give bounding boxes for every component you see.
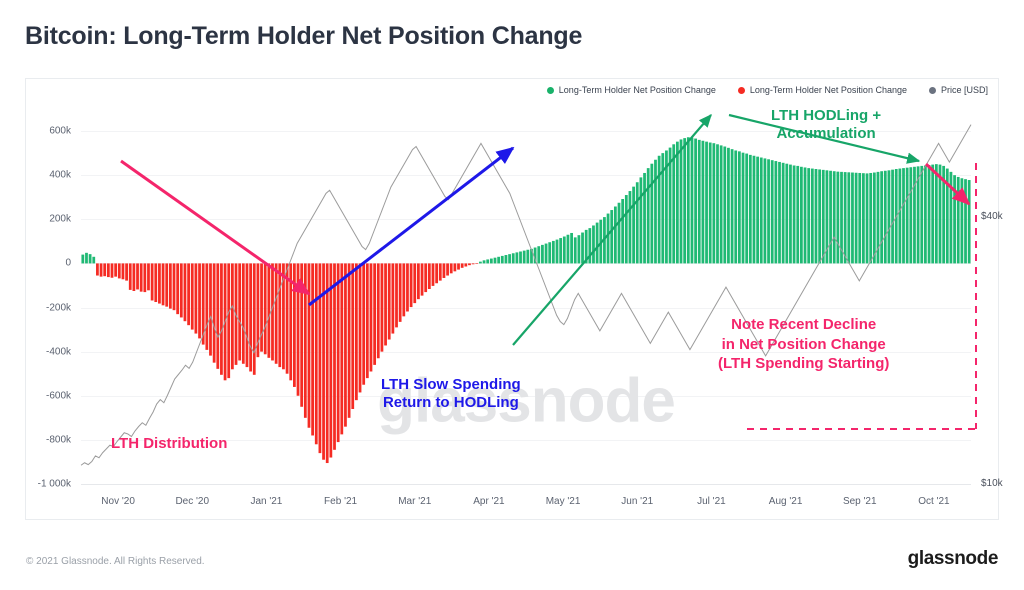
annotation-lth-distribution-line1: LTH Distribution <box>111 435 227 453</box>
legend-dot-red-icon <box>738 87 745 94</box>
y-axis-tick-label: -600k <box>46 390 71 401</box>
y-axis-tick-label: 0 <box>65 258 71 269</box>
price-axis-label: $40k <box>981 211 1003 222</box>
y-axis-tick-label: -800k <box>46 434 71 445</box>
y-axis-tick-label: 200k <box>49 214 71 225</box>
price-axis-label: $10k <box>981 478 1003 489</box>
x-axis-tick-label: Mar '21 <box>398 496 431 507</box>
x-axis-line <box>81 484 971 485</box>
x-axis-tick-label: Jul '21 <box>697 496 726 507</box>
annotation-lth-hodling-line2: Accumulation <box>771 125 881 143</box>
chart-legend: Long-Term Holder Net Position Change Lon… <box>547 85 988 95</box>
x-axis-tick-label: May '21 <box>546 496 581 507</box>
annotation-note-recent-decline-line2: in Net Position Change <box>718 335 889 355</box>
legend-label-green: Long-Term Holder Net Position Change <box>559 85 716 95</box>
arrow-recent-decline <box>926 164 969 204</box>
plot-area: 600k400k200k0-200k-400k-600k-800k-1 000k… <box>81 109 971 484</box>
x-axis-tick-label: Oct '21 <box>918 496 949 507</box>
y-axis-tick-label: -200k <box>46 302 71 313</box>
annotation-lth-slow-spending: LTH Slow Spending Return to HODLing <box>381 376 521 413</box>
y-axis-tick-label: -400k <box>46 346 71 357</box>
x-axis-tick-label: Dec '20 <box>175 496 209 507</box>
legend-label-price: Price [USD] <box>941 85 988 95</box>
x-axis-tick-label: Aug '21 <box>769 496 803 507</box>
x-axis-tick-label: Apr '21 <box>473 496 504 507</box>
annotation-lth-hodling-line1: LTH HODLing + <box>771 107 881 125</box>
annotation-lth-slow-spending-line2: Return to HODLing <box>381 394 521 412</box>
arrow-accumulation-up <box>513 115 711 345</box>
x-axis-tick-label: Sep '21 <box>843 496 877 507</box>
legend-item-lth-green[interactable]: Long-Term Holder Net Position Change <box>547 85 716 95</box>
footer-copyright: © 2021 Glassnode. All Rights Reserved. <box>26 556 205 567</box>
x-axis-tick-label: Jun '21 <box>621 496 653 507</box>
footer-logo: glassnode <box>908 548 998 570</box>
annotation-arrows-layer <box>81 109 971 484</box>
y-axis-tick-label: 600k <box>49 126 71 137</box>
annotation-lth-distribution: LTH Distribution <box>111 435 227 453</box>
legend-item-lth-red[interactable]: Long-Term Holder Net Position Change <box>738 85 907 95</box>
arrow-distribution <box>121 161 309 294</box>
legend-dot-gray-icon <box>929 87 936 94</box>
annotation-lth-hodling: LTH HODLing + Accumulation <box>771 107 881 144</box>
chart-card: Long-Term Holder Net Position Change Lon… <box>25 78 999 520</box>
annotation-note-recent-decline-line3: (LTH Spending Starting) <box>718 354 889 374</box>
annotation-note-recent-decline-line1: Note Recent Decline <box>718 315 889 335</box>
legend-dot-green-icon <box>547 87 554 94</box>
legend-label-red: Long-Term Holder Net Position Change <box>750 85 907 95</box>
arrow-slow-spending <box>309 148 513 305</box>
x-axis-tick-label: Jan '21 <box>250 496 282 507</box>
annotation-note-recent-decline: Note Recent Decline in Net Position Chan… <box>718 315 889 374</box>
page-title: Bitcoin: Long-Term Holder Net Position C… <box>25 22 582 51</box>
legend-item-price[interactable]: Price [USD] <box>929 85 988 95</box>
x-axis-tick-label: Nov '20 <box>101 496 135 507</box>
y-axis-tick-label: -1 000k <box>38 479 71 490</box>
x-axis-tick-label: Feb '21 <box>324 496 357 507</box>
annotation-lth-slow-spending-line1: LTH Slow Spending <box>381 376 521 394</box>
y-axis-tick-label: 400k <box>49 170 71 181</box>
